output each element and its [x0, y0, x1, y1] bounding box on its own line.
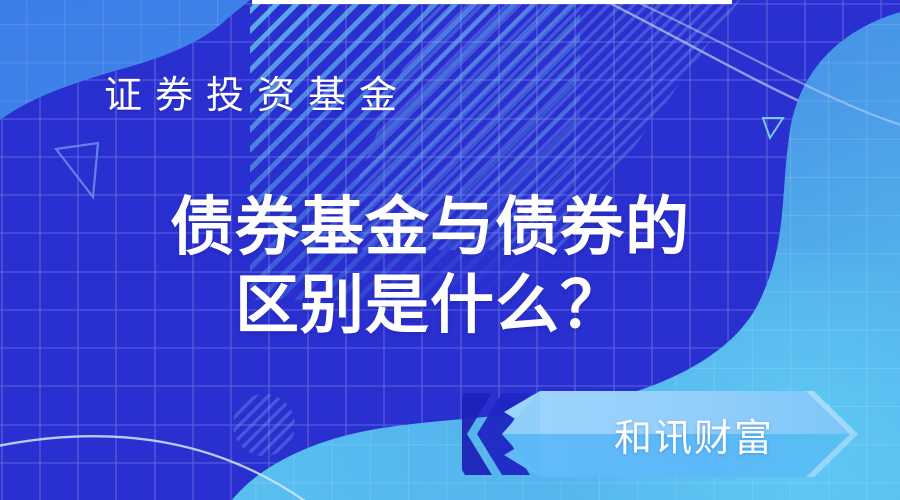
content-layer: 证券投资基金 债券基金与债券的 区别是什么？	[0, 0, 900, 500]
brand-label: 和讯财富	[462, 389, 900, 479]
poster-subtitle: 证券投资基金	[104, 77, 410, 115]
poster-canvas: 证券投资基金 债券基金与债券的 区别是什么？	[0, 0, 900, 500]
headline-line-2: 区别是什么？	[0, 266, 860, 344]
poster-headline: 债券基金与债券的 区别是什么？	[0, 188, 900, 344]
headline-line-1: 债券基金与债券的	[0, 188, 860, 266]
brand-ribbon: 和讯财富	[462, 389, 900, 479]
